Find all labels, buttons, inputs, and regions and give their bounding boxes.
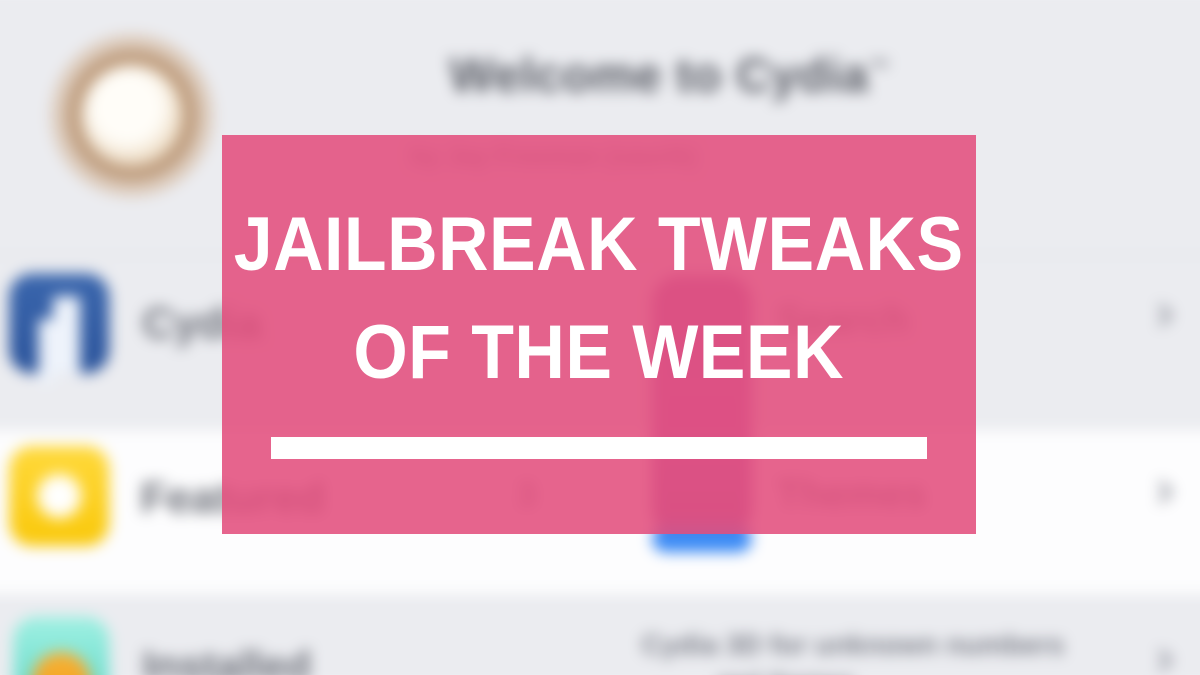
list-item-label: Installed [142,644,311,675]
facebook-icon [9,274,109,374]
overlay-title-line-2: OF THE WEEK [354,315,845,391]
row-divider [0,595,1200,596]
overlay-underline-bar [271,437,927,459]
title-card-overlay: JAILBREAK TWEAKS OF THE WEEK [222,135,976,534]
trademark-symbol: ™ [869,57,890,80]
screenshot-canvas: Welcome to Cydia™ by Jay Freeman (saurik… [0,0,1200,675]
featured-star-icon [9,446,109,546]
page-title: Welcome to Cydia™ [449,47,890,103]
cydia-app-icon [38,18,225,221]
installed-icon [13,617,109,675]
overlay-title-line-1: JAILBREAK TWEAKS [234,207,964,283]
page-title-text: Welcome to Cydia [449,48,868,102]
description-line-2: and themes [716,669,855,675]
description-line-1: Cydia 3D for unknown numbers [642,629,1065,661]
